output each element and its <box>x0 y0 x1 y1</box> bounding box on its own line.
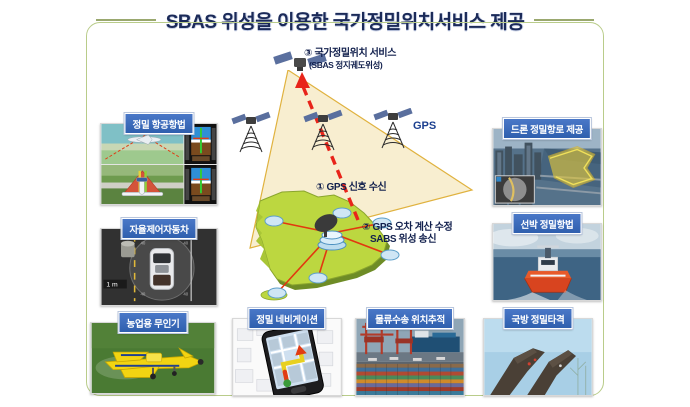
panel-label-dronepath: 드론 정밀항로 제공 <box>503 118 591 139</box>
svg-text:40: 40 <box>183 291 188 296</box>
panel-label-ship: 선박 정밀항법 <box>513 213 582 234</box>
svg-text:40: 40 <box>140 241 145 246</box>
step-1-label: ① GPS 신호 수신 <box>316 182 386 195</box>
panel-image-autocar: 1 m 4040 4040 <box>100 228 218 306</box>
panel-image-defense <box>483 318 593 396</box>
step-2-label-line2: SABS 위성 송신 <box>370 234 436 247</box>
panel-label-defense: 국방 정밀타격 <box>504 308 573 329</box>
panel-ship[interactable]: 선박 정밀항법 <box>492 213 602 301</box>
panel-label-logistics: 물류수송 위치추적 <box>367 308 453 329</box>
svg-text:40: 40 <box>140 291 145 296</box>
satellite-label-primary: ③ 국가정밀위치 서비스 <box>304 48 396 61</box>
panel-aviation[interactable]: 정밀 항공항법 <box>100 113 218 205</box>
svg-text:40: 40 <box>183 241 188 246</box>
gps-tag-label: GPS <box>413 120 436 132</box>
panel-agridrone[interactable]: 농업용 무인기 <box>90 312 216 394</box>
panel-autocar[interactable]: 자율제어자동차 1 m 4040 <box>100 218 218 306</box>
panel-image-navigation <box>232 318 342 396</box>
infographic-root: SBAS 위성을 이용한 국가정밀위치서비스 제공 <box>0 0 690 407</box>
step-2-label-line1: ② GPS 오차 계산 수정 <box>362 222 452 235</box>
title-rule-right <box>534 19 594 21</box>
title-rule-left <box>96 19 156 21</box>
panel-dronepath[interactable]: 드론 정밀항로 제공 <box>492 118 602 206</box>
panel-label-navigation: 정밀 네비게이션 <box>248 308 325 329</box>
panel-label-aviation: 정밀 항공항법 <box>125 113 194 134</box>
panel-label-agridrone: 농업용 무인기 <box>119 312 188 333</box>
panel-label-autocar: 자율제어자동차 <box>121 218 196 239</box>
panel-image-logistics <box>355 318 465 396</box>
gps-satellites-group <box>230 108 445 178</box>
panel-image-dronepath <box>492 128 602 206</box>
panel-image-ship <box>492 223 602 301</box>
panel-logistics[interactable]: 물류수송 위치추적 <box>355 308 465 396</box>
panel-image-aviation <box>100 123 218 205</box>
satellite-label-secondary: (SBAS 정지궤도위성) <box>309 60 382 71</box>
panel-defense[interactable]: 국방 정밀타격 <box>483 308 593 396</box>
panel-navigation[interactable]: 정밀 네비게이션 <box>232 308 342 396</box>
svg-text:1 m: 1 m <box>106 281 118 288</box>
